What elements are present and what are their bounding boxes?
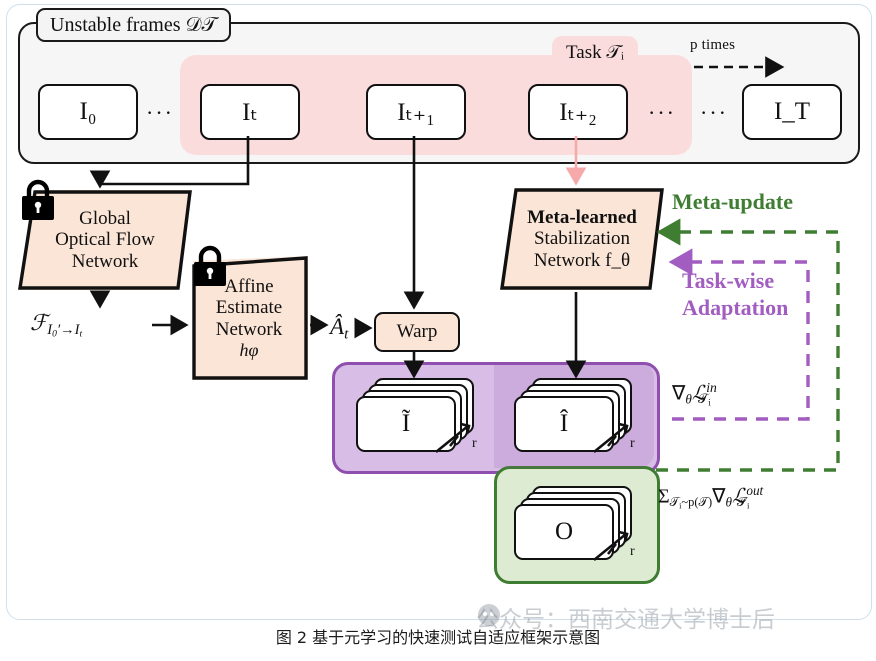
warped-frame-stack: Ĩ r	[356, 378, 476, 452]
task-tag: Task 𝒯ᵢ	[552, 36, 638, 70]
task-wise-line-2: Adaptation	[682, 295, 788, 322]
meta-line-1: Meta-learned	[527, 207, 637, 228]
output-frame-stack: O r	[514, 486, 634, 560]
gof-line-2: Optical Flow	[55, 229, 155, 250]
frame-It-label: Iₜ	[242, 97, 258, 127]
warp-block: Warp	[374, 312, 460, 352]
unstable-frames-tag-label: Unstable frames 𝒟𝒯	[50, 14, 217, 37]
task-tag-label: Task 𝒯ᵢ	[566, 42, 624, 64]
meta-learned-stabilization-network: Meta-learned Stabilization Network f_θ	[500, 188, 664, 290]
frame-It2: Iₜ₊₂	[528, 84, 628, 140]
warped-stack-count: r	[472, 436, 477, 452]
frame-I0-label: I₀	[79, 98, 96, 126]
frame-It: Iₜ	[200, 84, 300, 140]
stabilized-frame-stack: Î r	[514, 378, 634, 452]
affine-line-4: hφ	[240, 340, 259, 360]
meta-update-label: Meta-update	[672, 189, 793, 215]
affine-line-3: Network	[216, 319, 282, 340]
meta-line-3: Network f_θ	[534, 250, 630, 271]
unstable-frames-tag: Unstable frames 𝒟𝒯	[36, 8, 231, 42]
inner-loss-gradient-label: ∇θℒin𝒯i	[672, 380, 717, 408]
frame-It1-label: Iₜ₊₁	[397, 97, 435, 127]
outer-loss-gradient-label: Σ𝒯i~p(𝒯)∇θℒout𝒯i	[658, 483, 763, 511]
ellipsis-3: ···	[700, 100, 728, 126]
meta-line-2: Stabilization	[534, 228, 630, 249]
output-stack-count: r	[630, 544, 635, 560]
affine-output-label: Ât	[330, 314, 348, 343]
task-wise-line-1: Task-wise	[682, 268, 788, 295]
p-times-label: p times	[690, 37, 735, 54]
warp-label: Warp	[397, 321, 438, 343]
ellipsis-2: ···	[648, 100, 676, 126]
frame-IT: I_T	[742, 84, 842, 140]
frame-It1: Iₜ₊₁	[366, 84, 466, 140]
frame-IT-label: I_T	[774, 98, 810, 126]
gof-line-3: Network	[72, 251, 138, 272]
frame-It2-label: Iₜ₊₂	[559, 97, 597, 127]
stabilized-stack-label: Î	[560, 410, 568, 438]
watermark-text: 公众号：西南交通大学博士后	[476, 600, 775, 634]
affine-line-2: Estimate	[216, 297, 282, 318]
stabilized-stack-count: r	[630, 436, 635, 452]
gof-line-1: Global	[79, 208, 131, 229]
task-wise-adaptation-label: Task-wise Adaptation	[682, 268, 788, 322]
affine-line-1: Affine	[224, 276, 273, 297]
frame-I0: I₀	[38, 84, 138, 140]
flow-field-label: ℱI0′→It	[30, 310, 82, 340]
lock-icon-affine	[190, 242, 230, 288]
ellipsis-1: ···	[146, 100, 174, 126]
lock-icon-optical-flow	[18, 176, 58, 222]
output-stack-label: O	[555, 518, 573, 546]
warped-stack-label: Ĩ	[402, 410, 410, 438]
